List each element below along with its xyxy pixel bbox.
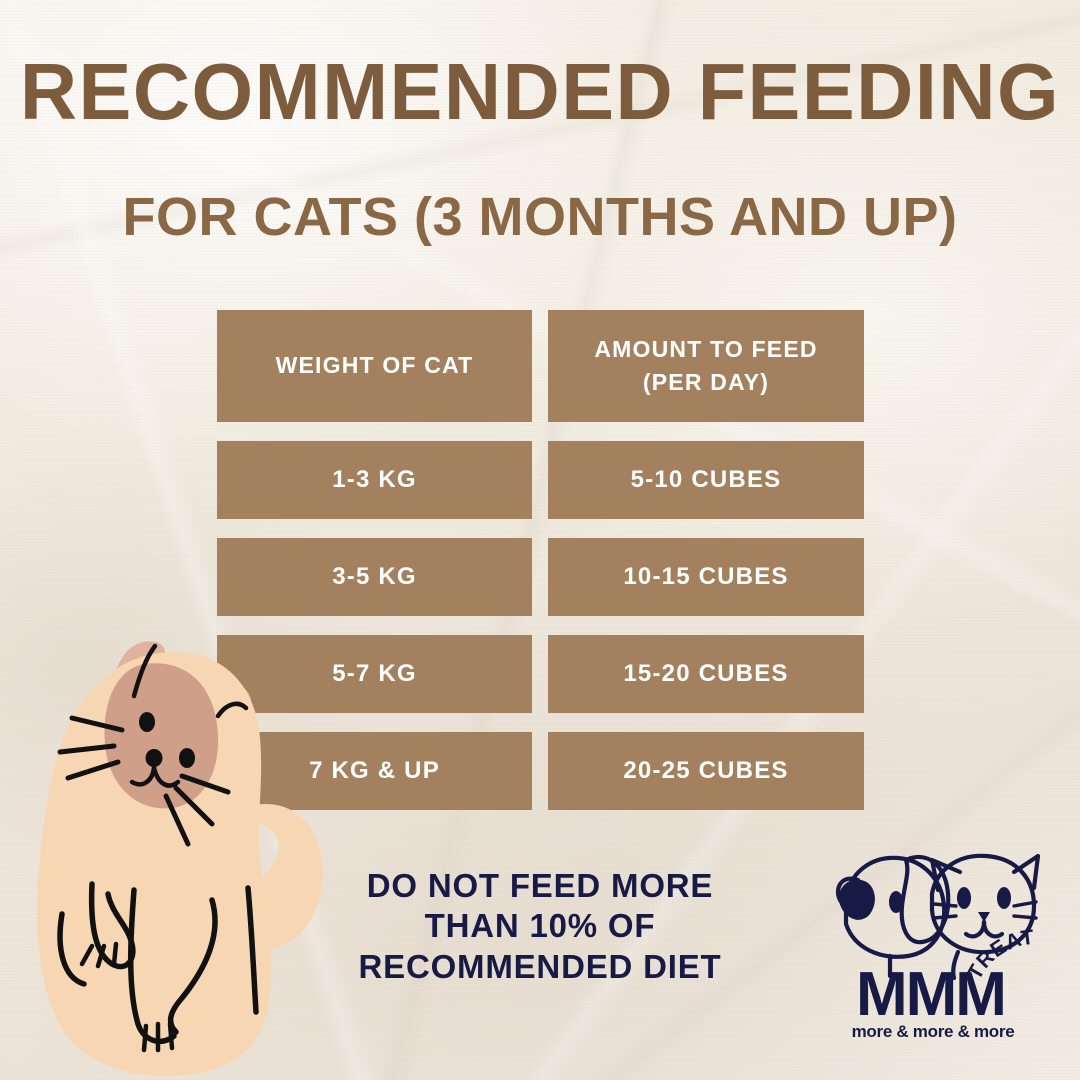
- sitting-cat-illustration: [16, 612, 356, 1080]
- poster-heading-group: RECOMMENDED FEEDING: [0, 52, 1080, 132]
- cat-eye-left: [139, 712, 155, 732]
- warning-line-3: RECOMMENDED DIET: [359, 948, 722, 985]
- table-cell-weight-value: 3-5 KG: [332, 563, 417, 591]
- table-cell-weight: 3-5 KG: [217, 538, 532, 616]
- table-header-weight-label: WEIGHT OF CAT: [276, 349, 474, 382]
- table-cell-amount: 5-10 CUBES: [548, 441, 864, 519]
- cat-whisker-left-2-icon: [934, 916, 956, 918]
- cat-eye-right: [179, 748, 195, 768]
- recommended-feeding-poster: RECOMMENDED FEEDING FOR CATS (3 MONTHS A…: [0, 0, 1080, 1080]
- table-row: 1-3 KG 5-10 CUBES: [217, 441, 864, 519]
- table-cell-amount-value: 20-25 CUBES: [623, 757, 788, 785]
- cat-toe-3: [114, 944, 116, 964]
- table-header-amount-line1: AMOUNT TO FEED: [594, 336, 817, 362]
- warning-line-2: THAN 10% OF: [425, 907, 656, 944]
- table-header-amount-line2: (PER DAY): [643, 369, 769, 395]
- dog-eye-icon: [889, 891, 903, 913]
- warning-line-1: DO NOT FEED MORE: [367, 867, 713, 904]
- table-cell-weight-value: 1-3 KG: [332, 466, 417, 494]
- cat-nose: [146, 749, 163, 767]
- cat-whisker-right-2-icon: [1014, 916, 1036, 918]
- logo-tagline: more & more & more: [828, 1022, 1038, 1042]
- table-cell-amount-value: 15-20 CUBES: [623, 660, 788, 688]
- logo-wordmark: MMM: [828, 964, 1033, 1026]
- cat-smile-right-icon: [984, 922, 1002, 936]
- table-row: 3-5 KG 10-15 CUBES: [217, 538, 864, 616]
- table-header-weight: WEIGHT OF CAT: [217, 310, 532, 422]
- table-header-amount-text: AMOUNT TO FEED (PER DAY): [594, 333, 817, 400]
- table-cell-amount: 10-15 CUBES: [548, 538, 864, 616]
- table-header-amount: AMOUNT TO FEED (PER DAY): [548, 310, 864, 422]
- table-cell-amount: 15-20 CUBES: [548, 635, 864, 713]
- table-header-row: WEIGHT OF CAT AMOUNT TO FEED (PER DAY): [217, 310, 864, 422]
- cat-eye-left-icon: [957, 887, 971, 909]
- table-cell-weight: 1-3 KG: [217, 441, 532, 519]
- page-subtitle: FOR CATS (3 MONTHS AND UP): [0, 190, 1080, 244]
- cat-whisker-left-1-icon: [934, 904, 956, 906]
- cat-smile-left-icon: [966, 922, 984, 936]
- cat-face-patch: [105, 663, 219, 808]
- cat-paw-toe-1: [144, 1026, 146, 1050]
- table-cell-amount-value: 10-15 CUBES: [623, 563, 788, 591]
- table-cell-amount-value: 5-10 CUBES: [631, 466, 782, 494]
- brand-logo: TREATS MMM more & more & more: [828, 836, 1060, 1048]
- dog-eye-patch-icon: [841, 882, 873, 918]
- table-cell-amount: 20-25 CUBES: [548, 732, 864, 810]
- feeding-warning-note: DO NOT FEED MORE THAN 10% OF RECOMMENDED…: [330, 866, 750, 987]
- cat-eye-right-icon: [997, 887, 1011, 909]
- page-title: RECOMMENDED FEEDING: [5, 52, 1074, 132]
- cat-ear-right-icon: [1014, 856, 1038, 888]
